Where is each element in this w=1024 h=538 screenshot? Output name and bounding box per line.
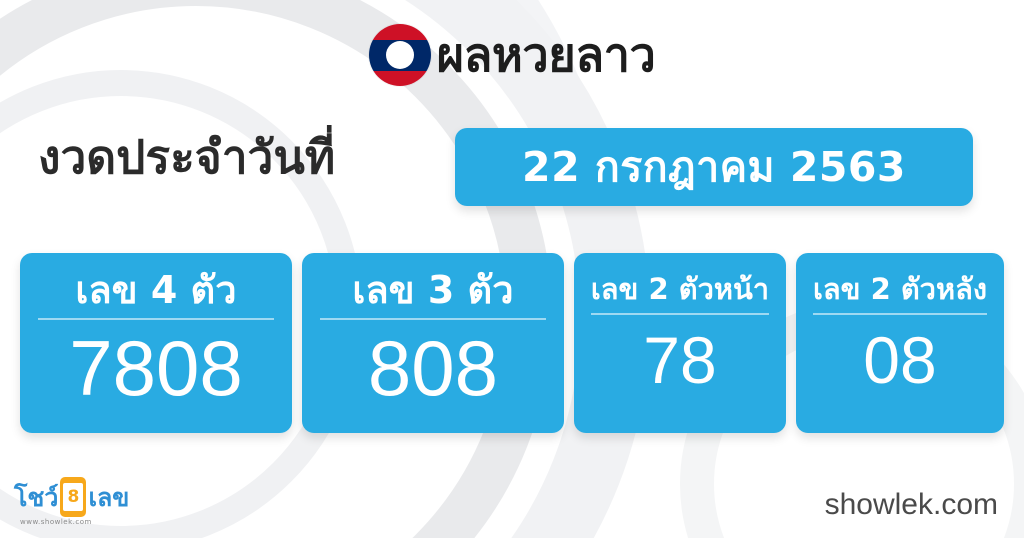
result-card-three-digit: เลข 3 ตัว 808 <box>302 253 564 433</box>
result-card-number: 7808 <box>69 329 243 407</box>
site-logo-text-right: เลข <box>88 485 129 510</box>
result-card-divider <box>320 318 546 320</box>
results-row: เลข 4 ตัว 7808 เลข 3 ตัว 808 เลข 2 ตัวหน… <box>20 253 1004 433</box>
result-card-divider <box>591 313 769 315</box>
phone-icon: 8 <box>60 477 86 517</box>
site-logo-subtext: www.showlek.com <box>20 518 92 526</box>
result-card-four-digit: เลข 4 ตัว 7808 <box>20 253 292 433</box>
phone-icon-digit: 8 <box>63 483 83 511</box>
poster-canvas: ผลหวยลาว งวดประจำวันที่ 22 กรกฎาคม 2563 … <box>0 0 1024 538</box>
result-card-two-digit-back: เลข 2 ตัวหลัง 08 <box>796 253 1004 433</box>
result-card-number: 808 <box>368 329 498 407</box>
result-card-title: เลข 2 ตัวหลัง <box>813 275 987 304</box>
result-card-number: 08 <box>863 327 936 393</box>
result-card-title: เลข 3 ตัว <box>352 271 513 309</box>
result-card-divider <box>813 313 987 315</box>
result-card-title: เลข 4 ตัว <box>75 271 236 309</box>
page-header: ผลหวยลาว <box>0 24 1024 86</box>
site-logo[interactable]: โชว์ 8 เลข www.showlek.com <box>14 470 164 524</box>
result-card-two-digit-front: เลข 2 ตัวหน้า 78 <box>574 253 786 433</box>
draw-date-value: 22 กรกฎาคม 2563 <box>522 147 906 188</box>
page-title: ผลหวยลาว <box>437 32 656 79</box>
result-card-number: 78 <box>643 327 716 393</box>
result-card-divider <box>38 318 274 320</box>
draw-date-row: งวดประจำวันที่ 22 กรกฎาคม 2563 <box>0 128 1024 214</box>
result-card-title: เลข 2 ตัวหน้า <box>591 275 769 304</box>
site-url: showlek.com <box>825 490 998 520</box>
draw-date-label: งวดประจำวันที่ <box>38 134 335 180</box>
site-logo-text-left: โชว์ <box>14 485 58 510</box>
laos-flag-circle-icon <box>369 24 431 86</box>
draw-date-badge: 22 กรกฎาคม 2563 <box>455 128 973 206</box>
